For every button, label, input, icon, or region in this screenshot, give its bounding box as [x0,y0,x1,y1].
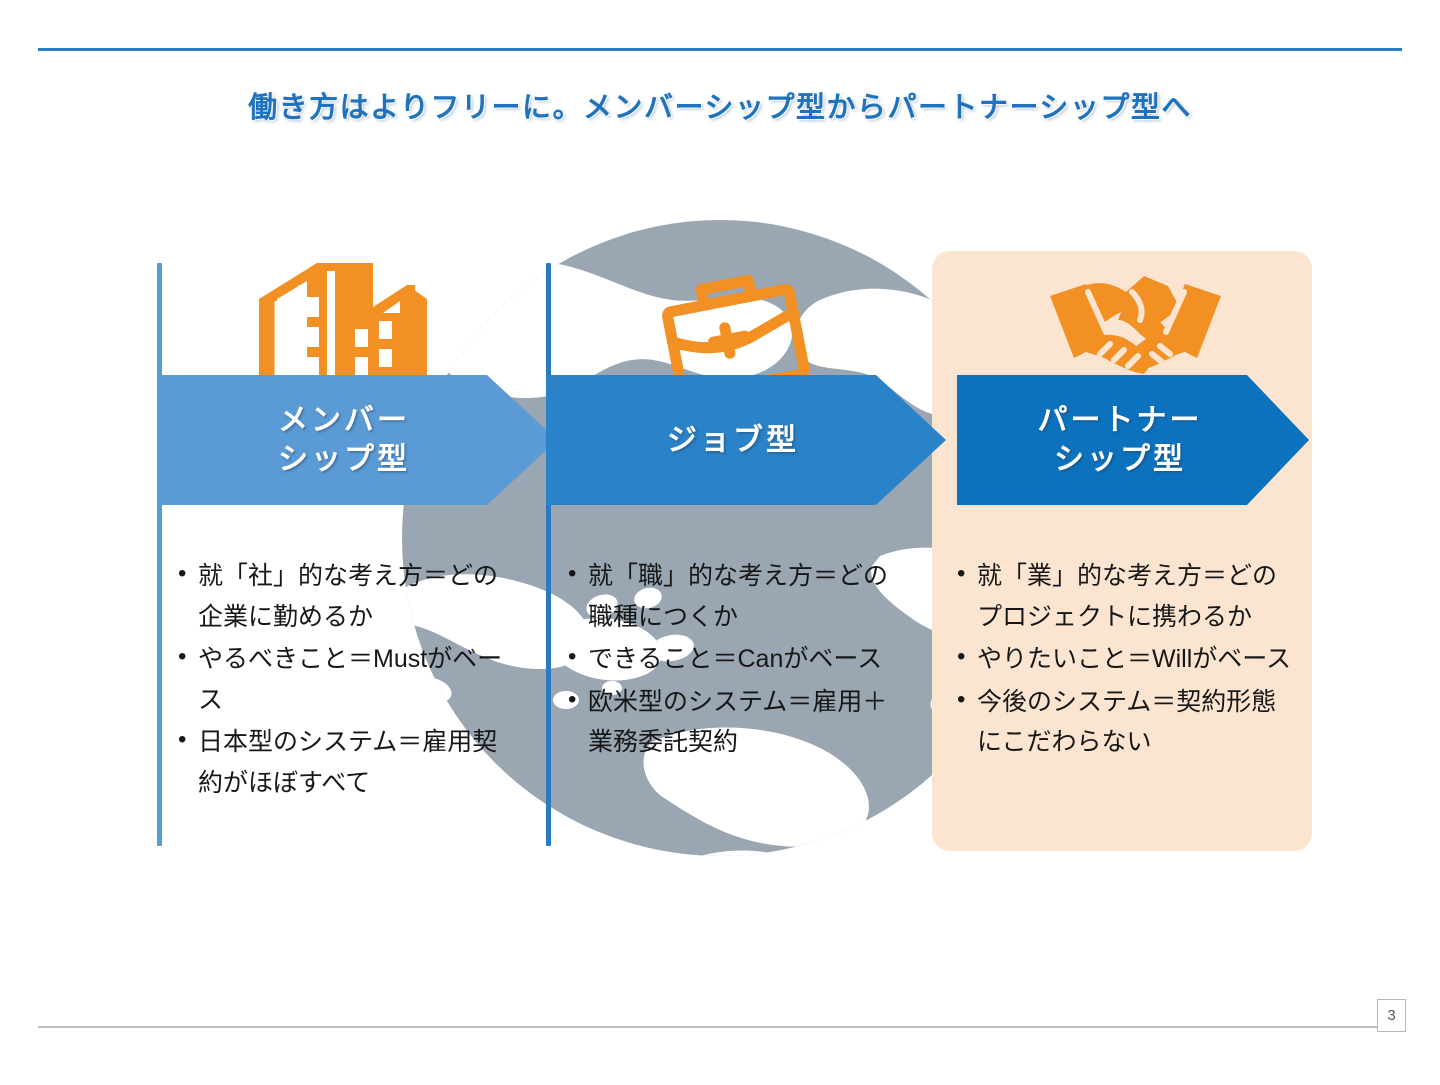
list-item: 欧米型のシステム＝雇用＋業務委託契約 [566,682,906,763]
list-item: 今後のシステム＝契約形態にこだわらない [955,682,1295,763]
banner-job-label: ジョブ型 [667,421,825,460]
footer-rule [38,1026,1402,1028]
column-divider-membership [157,263,162,846]
list-item: やりたいこと＝Willがベース [955,639,1295,680]
header-rule [38,48,1402,51]
list-item: 就「社」的な考え方＝どの企業に勤めるか [176,556,516,637]
banner-partnership-label: パートナー シップ型 [1038,401,1229,479]
banner-partnership[interactable]: パートナー シップ型 [957,375,1309,505]
slide-canvas: 働き方はよりフリーに。メンバーシップ型からパートナーシップ型へ [0,0,1440,1080]
column-divider-job [546,263,551,846]
bullets-membership: 就「社」的な考え方＝どの企業に勤めるか やるべきこと＝Mustがベース 日本型の… [176,556,516,805]
bullets-job: 就「職」的な考え方＝どの職種につくか できること＝Canがベース 欧米型のシステ… [566,556,906,765]
page-title: 働き方はよりフリーに。メンバーシップ型からパートナーシップ型へ [0,84,1440,126]
list-item: 就「職」的な考え方＝どの職種につくか [566,556,906,637]
banner-membership[interactable]: メンバー シップ型 [157,375,557,505]
banner-membership-label: メンバー シップ型 [278,401,436,479]
building-icon [255,255,430,395]
handshake-icon [1048,262,1223,390]
list-item: 日本型のシステム＝雇用契約がほぼすべて [176,722,516,803]
banner-job[interactable]: ジョブ型 [546,375,946,505]
list-item: できること＝Canがベース [566,639,906,680]
page-number: 3 [1377,999,1406,1032]
list-item: やるべきこと＝Mustがベース [176,639,516,720]
list-item: 就「業」的な考え方＝どのプロジェクトに携わるか [955,556,1295,637]
bullets-partnership: 就「業」的な考え方＝どのプロジェクトに携わるか やりたいこと＝Willがベース … [955,556,1295,765]
